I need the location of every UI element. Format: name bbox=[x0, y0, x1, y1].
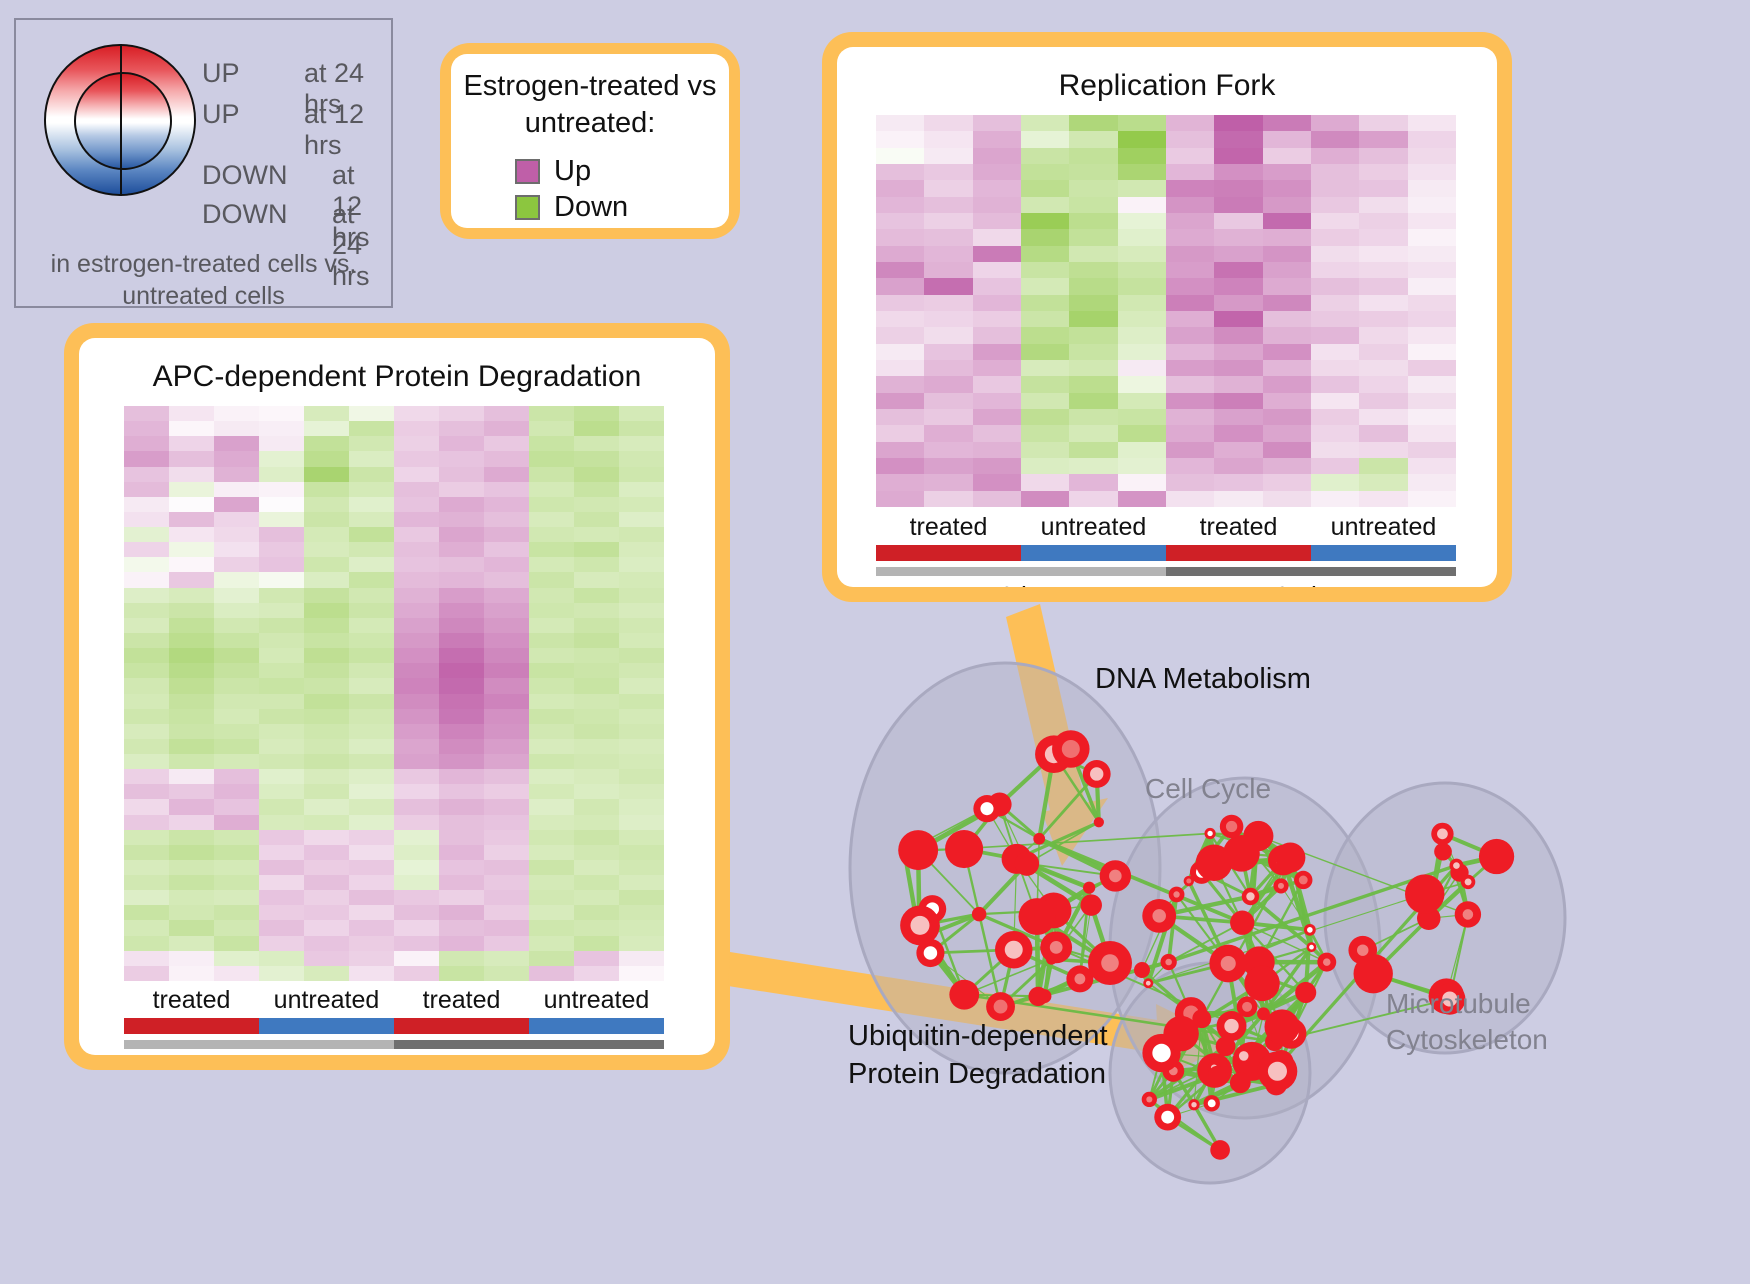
heatmap-cell bbox=[1408, 229, 1456, 245]
heatmap-cell bbox=[1118, 115, 1166, 131]
heatmap-cell bbox=[1166, 409, 1214, 425]
heatmap-cell bbox=[304, 815, 349, 830]
heatmap-cell bbox=[304, 830, 349, 845]
heatmap-cell bbox=[349, 845, 394, 860]
heatmap-cell bbox=[169, 936, 214, 951]
heatmap-cell bbox=[1021, 197, 1069, 213]
heatmap-cell bbox=[259, 482, 304, 497]
heatmap-cell bbox=[1214, 278, 1262, 294]
heatmap-cell bbox=[1118, 197, 1166, 213]
heatmap-cell bbox=[529, 739, 574, 754]
heatmap-cell bbox=[1118, 376, 1166, 392]
heatmap-cell bbox=[1359, 164, 1407, 180]
network-node bbox=[1216, 1036, 1236, 1056]
heatmap-cell bbox=[349, 890, 394, 905]
heatmap-cell bbox=[169, 694, 214, 709]
heatmap-cell bbox=[484, 588, 529, 603]
heatmap-cell bbox=[1359, 197, 1407, 213]
heatmap-cell bbox=[574, 724, 619, 739]
heatmap-cell bbox=[124, 799, 169, 814]
heatmap-cell bbox=[619, 739, 664, 754]
heatmap-cell bbox=[394, 769, 439, 784]
heatmap-cell bbox=[259, 905, 304, 920]
heatmap-cell bbox=[1408, 409, 1456, 425]
apc-degradation-inner: APC-dependent Protein Degradation treate… bbox=[79, 338, 715, 1055]
heatmap-cell bbox=[124, 678, 169, 693]
heatmap-cell bbox=[876, 148, 924, 164]
heatmap-cell bbox=[304, 633, 349, 648]
heatmap-cell bbox=[484, 815, 529, 830]
heatmap-cell bbox=[1069, 376, 1117, 392]
heatmap-cell bbox=[619, 875, 664, 890]
network-node bbox=[1094, 817, 1104, 827]
heatmap-cell bbox=[1263, 131, 1311, 147]
heatmap-cell bbox=[574, 890, 619, 905]
heatmap-cell bbox=[1214, 442, 1262, 458]
heatmap-cell bbox=[1069, 442, 1117, 458]
network-node-core bbox=[1463, 909, 1474, 920]
group-bar-treated bbox=[124, 1018, 259, 1034]
heatmap-cell bbox=[1069, 425, 1117, 441]
network-node bbox=[1230, 911, 1254, 935]
heatmap-cell bbox=[304, 875, 349, 890]
network-node bbox=[1163, 1016, 1198, 1051]
network-node-core bbox=[1307, 927, 1313, 933]
heatmap-cell bbox=[1021, 148, 1069, 164]
heatmap-cell bbox=[124, 860, 169, 875]
heatmap-cell bbox=[1311, 213, 1359, 229]
heatmap-cell bbox=[1021, 311, 1069, 327]
heatmap-cell bbox=[973, 474, 1021, 490]
heatmap-cell bbox=[124, 603, 169, 618]
heatmap-cell bbox=[574, 451, 619, 466]
network-node-core bbox=[1090, 767, 1103, 780]
heatmap-cell bbox=[619, 663, 664, 678]
heatmap-cell bbox=[304, 724, 349, 739]
heatmap-cell bbox=[124, 482, 169, 497]
heatmap-cell bbox=[439, 724, 484, 739]
heatmap-cell bbox=[1214, 344, 1262, 360]
heatmap-cell bbox=[529, 497, 574, 512]
heatmap-cell bbox=[529, 875, 574, 890]
heatmap-cell bbox=[439, 512, 484, 527]
network-node bbox=[1223, 835, 1260, 872]
heatmap-cell bbox=[1069, 393, 1117, 409]
heatmap-cell bbox=[1069, 213, 1117, 229]
heatmap-cell bbox=[529, 890, 574, 905]
heatmap-cell bbox=[439, 830, 484, 845]
heatmap-cell bbox=[349, 936, 394, 951]
heatmap-cell bbox=[1166, 311, 1214, 327]
group-bar-untreated bbox=[1311, 545, 1456, 561]
heatmap-cell bbox=[1021, 278, 1069, 294]
heatmap-cell bbox=[876, 278, 924, 294]
heatmap-cell bbox=[529, 557, 574, 572]
heatmap-cell bbox=[876, 180, 924, 196]
heatmap-cell bbox=[924, 442, 972, 458]
heatmap-cell bbox=[924, 278, 972, 294]
heatmap-cell bbox=[169, 678, 214, 693]
group-bar-treated bbox=[876, 545, 1021, 561]
heatmap-cell bbox=[973, 164, 1021, 180]
heatmap-cell bbox=[124, 497, 169, 512]
heatmap-cell bbox=[1311, 393, 1359, 409]
heatmap-cell bbox=[484, 572, 529, 587]
heatmap-cell bbox=[574, 754, 619, 769]
heatmap-cell bbox=[484, 527, 529, 542]
heatmap-cell bbox=[876, 164, 924, 180]
heatmap-cell bbox=[619, 920, 664, 935]
heatmap-cell bbox=[1408, 164, 1456, 180]
heatmap-cell bbox=[529, 951, 574, 966]
heatmap-cell bbox=[619, 557, 664, 572]
heatmap-cell bbox=[484, 618, 529, 633]
heatmap-cell bbox=[574, 799, 619, 814]
heatmap-cell bbox=[304, 920, 349, 935]
heatmap-cell bbox=[1311, 229, 1359, 245]
heatmap-cell bbox=[619, 784, 664, 799]
heatmap-cell bbox=[1069, 311, 1117, 327]
heatmap-cell bbox=[169, 966, 214, 981]
heatmap-cell bbox=[439, 920, 484, 935]
heatmap-cell bbox=[394, 860, 439, 875]
heatmap-cell bbox=[259, 527, 304, 542]
heatmap-cell bbox=[394, 920, 439, 935]
heatmap-cell bbox=[439, 648, 484, 663]
heatmap-cell bbox=[484, 663, 529, 678]
network-node-core bbox=[1224, 1019, 1238, 1033]
heatmap-cell bbox=[619, 497, 664, 512]
heatmap-cell bbox=[439, 905, 484, 920]
heatmap-cell bbox=[1408, 458, 1456, 474]
network-node-core bbox=[1239, 1051, 1249, 1061]
group-label: treated bbox=[876, 513, 1021, 542]
heatmap-cell bbox=[574, 467, 619, 482]
heatmap-cell bbox=[1408, 442, 1456, 458]
heatmap-cell bbox=[214, 557, 259, 572]
network-node bbox=[1479, 839, 1514, 874]
heatmap-cell bbox=[574, 406, 619, 421]
heatmap-cell bbox=[349, 739, 394, 754]
heatmap-cell bbox=[124, 694, 169, 709]
apc-degradation-panel: APC-dependent Protein Degradation treate… bbox=[64, 323, 730, 1070]
heatmap-cell bbox=[484, 633, 529, 648]
heatmap-cell bbox=[1021, 376, 1069, 392]
heatmap-cell bbox=[484, 542, 529, 557]
heatmap-cell bbox=[349, 694, 394, 709]
heatmap-cell bbox=[1359, 425, 1407, 441]
heatmap-cell bbox=[484, 936, 529, 951]
heatmap-cell bbox=[574, 512, 619, 527]
heatmap-cell bbox=[349, 905, 394, 920]
heatmap-cell bbox=[1263, 295, 1311, 311]
heatmap-cell bbox=[924, 295, 972, 311]
inner-ring-12hrs bbox=[74, 72, 172, 170]
replication-fork-group-bars bbox=[876, 545, 1456, 561]
heatmap-cell bbox=[529, 845, 574, 860]
heatmap-cell bbox=[1166, 393, 1214, 409]
colorbar-legend-caption: in estrogen-treated cells vs. untreated … bbox=[16, 248, 391, 312]
group-label: untreated bbox=[529, 986, 664, 1015]
heatmap-cell bbox=[214, 542, 259, 557]
heatmap-cell bbox=[124, 648, 169, 663]
heatmap-cell bbox=[394, 451, 439, 466]
heatmap-cell bbox=[1214, 229, 1262, 245]
heatmap-cell bbox=[439, 542, 484, 557]
heatmap-cell bbox=[529, 618, 574, 633]
heatmap-cell bbox=[394, 709, 439, 724]
heatmap-cell bbox=[259, 497, 304, 512]
heatmap-cell bbox=[1166, 148, 1214, 164]
network-node-core bbox=[1323, 958, 1331, 966]
heatmap-cell bbox=[304, 936, 349, 951]
heatmap-cell bbox=[124, 572, 169, 587]
heatmap-cell bbox=[1359, 409, 1407, 425]
heatmap-cell bbox=[1311, 148, 1359, 164]
group-bar-treated bbox=[394, 1018, 529, 1034]
heatmap-cell bbox=[349, 542, 394, 557]
heatmap-cell bbox=[484, 406, 529, 421]
heatmap-cell bbox=[529, 663, 574, 678]
legend-item-up: Up bbox=[515, 155, 591, 188]
heatmap-cell bbox=[529, 542, 574, 557]
heatmap-cell bbox=[1311, 409, 1359, 425]
heatmap-cell bbox=[439, 482, 484, 497]
updown-legend-panel: Estrogen-treated vs untreated: Up Down bbox=[440, 43, 740, 239]
heatmap-cell bbox=[214, 754, 259, 769]
heatmap-cell bbox=[619, 618, 664, 633]
heatmap-cell bbox=[394, 512, 439, 527]
heatmap-cell bbox=[619, 572, 664, 587]
heatmap-cell bbox=[169, 482, 214, 497]
heatmap-cell bbox=[1311, 278, 1359, 294]
heatmap-cell bbox=[124, 588, 169, 603]
heatmap-cell bbox=[1359, 344, 1407, 360]
group-bar-untreated bbox=[259, 1018, 394, 1034]
heatmap-cell bbox=[1214, 327, 1262, 343]
heatmap-cell bbox=[484, 436, 529, 451]
heatmap-cell bbox=[1118, 180, 1166, 196]
heatmap-cell bbox=[1408, 197, 1456, 213]
heatmap-cell bbox=[394, 694, 439, 709]
heatmap-cell bbox=[1021, 409, 1069, 425]
heatmap-cell bbox=[529, 512, 574, 527]
heatmap-cell bbox=[924, 458, 972, 474]
updown-ring-diagram bbox=[44, 44, 199, 204]
heatmap-cell bbox=[439, 406, 484, 421]
heatmap-cell bbox=[394, 890, 439, 905]
heatmap-cell bbox=[394, 784, 439, 799]
heatmap-cell bbox=[394, 845, 439, 860]
heatmap-cell bbox=[394, 875, 439, 890]
heatmap-cell bbox=[484, 467, 529, 482]
heatmap-cell bbox=[304, 467, 349, 482]
heatmap-cell bbox=[259, 406, 304, 421]
heatmap-cell bbox=[304, 557, 349, 572]
heatmap-cell bbox=[1069, 295, 1117, 311]
updown-legend-inner: Estrogen-treated vs untreated: Up Down bbox=[451, 54, 729, 228]
heatmap-cell bbox=[1408, 425, 1456, 441]
heatmap-cell bbox=[1118, 278, 1166, 294]
heatmap-cell bbox=[169, 648, 214, 663]
heatmap-cell bbox=[484, 724, 529, 739]
network-node-core bbox=[994, 1000, 1008, 1014]
heatmap-cell bbox=[1408, 262, 1456, 278]
heatmap-cell bbox=[529, 406, 574, 421]
heatmap-cell bbox=[439, 603, 484, 618]
heatmap-cell bbox=[619, 451, 664, 466]
heatmap-cell bbox=[124, 905, 169, 920]
heatmap-cell bbox=[304, 709, 349, 724]
legend-state-down-24: DOWN bbox=[202, 199, 287, 230]
heatmap-cell bbox=[1166, 278, 1214, 294]
network-node-core bbox=[1146, 1096, 1152, 1102]
heatmap-cell bbox=[259, 512, 304, 527]
heatmap-cell bbox=[1214, 164, 1262, 180]
heatmap-cell bbox=[1408, 213, 1456, 229]
heatmap-cell bbox=[574, 815, 619, 830]
ring-divider bbox=[120, 44, 122, 196]
heatmap-cell bbox=[214, 815, 259, 830]
heatmap-cell bbox=[619, 830, 664, 845]
heatmap-cell bbox=[349, 951, 394, 966]
heatmap-cell bbox=[619, 512, 664, 527]
heatmap-cell bbox=[304, 512, 349, 527]
heatmap-cell bbox=[439, 815, 484, 830]
heatmap-cell bbox=[439, 845, 484, 860]
heatmap-cell bbox=[349, 875, 394, 890]
heatmap-cell bbox=[304, 966, 349, 981]
heatmap-cell bbox=[394, 830, 439, 845]
heatmap-cell bbox=[259, 799, 304, 814]
heatmap-cell bbox=[439, 951, 484, 966]
heatmap-cell bbox=[1359, 246, 1407, 262]
heatmap-cell bbox=[349, 588, 394, 603]
heatmap-cell bbox=[876, 376, 924, 392]
cluster-label-ubiquitin-degradation: Ubiquitin-dependent Protein Degradation bbox=[848, 1018, 1108, 1093]
heatmap-cell bbox=[1069, 197, 1117, 213]
heatmap-cell bbox=[304, 406, 349, 421]
network-node bbox=[1210, 1140, 1230, 1160]
heatmap-cell bbox=[214, 618, 259, 633]
heatmap-cell bbox=[574, 845, 619, 860]
heatmap-cell bbox=[214, 769, 259, 784]
heatmap-cell bbox=[1214, 360, 1262, 376]
heatmap-cell bbox=[394, 966, 439, 981]
heatmap-cell bbox=[1021, 360, 1069, 376]
heatmap-cell bbox=[1214, 246, 1262, 262]
replication-fork-inner: Replication Fork treateduntreatedtreated… bbox=[837, 47, 1497, 587]
heatmap-cell bbox=[924, 131, 972, 147]
heatmap-cell bbox=[924, 311, 972, 327]
heatmap-cell bbox=[439, 875, 484, 890]
heatmap-cell bbox=[394, 951, 439, 966]
heatmap-cell bbox=[1214, 213, 1262, 229]
heatmap-cell bbox=[1359, 180, 1407, 196]
legend-state-down-12: DOWN bbox=[202, 160, 287, 191]
network-node-core bbox=[1109, 870, 1122, 883]
heatmap-cell bbox=[574, 678, 619, 693]
heatmap-cell bbox=[304, 663, 349, 678]
heatmap-cell bbox=[349, 603, 394, 618]
heatmap-cell bbox=[574, 588, 619, 603]
heatmap-cell bbox=[214, 451, 259, 466]
heatmap-cell bbox=[1166, 344, 1214, 360]
heatmap-cell bbox=[259, 663, 304, 678]
heatmap-cell bbox=[574, 633, 619, 648]
heatmap-cell bbox=[1263, 229, 1311, 245]
heatmap-cell bbox=[1214, 311, 1262, 327]
legend-state-up-12: UP bbox=[202, 99, 240, 130]
heatmap-cell bbox=[169, 572, 214, 587]
heatmap-cell bbox=[1311, 262, 1359, 278]
heatmap-cell bbox=[619, 890, 664, 905]
heatmap-cell bbox=[214, 890, 259, 905]
group-label: treated bbox=[394, 986, 529, 1015]
network-node bbox=[1015, 852, 1039, 876]
heatmap-cell bbox=[1263, 148, 1311, 164]
heatmap-cell bbox=[1359, 393, 1407, 409]
heatmap-cell bbox=[349, 830, 394, 845]
heatmap-cell bbox=[259, 830, 304, 845]
heatmap-cell bbox=[1408, 311, 1456, 327]
heatmap-cell bbox=[214, 633, 259, 648]
heatmap-cell bbox=[349, 678, 394, 693]
heatmap-cell bbox=[394, 482, 439, 497]
heatmap-cell bbox=[214, 406, 259, 421]
heatmap-cell bbox=[394, 648, 439, 663]
heatmap-cell bbox=[1408, 491, 1456, 507]
heatmap-cell bbox=[304, 618, 349, 633]
heatmap-cell bbox=[1118, 458, 1166, 474]
heatmap-cell bbox=[876, 246, 924, 262]
heatmap-cell bbox=[1118, 425, 1166, 441]
heatmap-cell bbox=[1359, 213, 1407, 229]
heatmap-cell bbox=[1311, 491, 1359, 507]
heatmap-cell bbox=[304, 648, 349, 663]
heatmap-cell bbox=[924, 474, 972, 490]
heatmap-cell bbox=[439, 936, 484, 951]
heatmap-cell bbox=[1408, 344, 1456, 360]
network-node-core bbox=[1152, 909, 1166, 923]
heatmap-cell bbox=[1166, 229, 1214, 245]
heatmap-cell bbox=[574, 618, 619, 633]
heatmap-cell bbox=[574, 421, 619, 436]
heatmap-cell bbox=[259, 815, 304, 830]
heatmap-cell bbox=[924, 393, 972, 409]
heatmap-cell bbox=[1166, 474, 1214, 490]
heatmap-cell bbox=[349, 799, 394, 814]
heatmap-cell bbox=[529, 482, 574, 497]
cluster-label-cell-cycle: Cell Cycle bbox=[1145, 773, 1271, 805]
heatmap-cell bbox=[124, 936, 169, 951]
heatmap-cell bbox=[394, 406, 439, 421]
heatmap-cell bbox=[214, 936, 259, 951]
heatmap-cell bbox=[876, 344, 924, 360]
heatmap-cell bbox=[214, 860, 259, 875]
heatmap-cell bbox=[529, 860, 574, 875]
heatmap-cell bbox=[349, 436, 394, 451]
heatmap-cell bbox=[259, 451, 304, 466]
network-node bbox=[1295, 982, 1316, 1003]
heatmap-cell bbox=[124, 663, 169, 678]
heatmap-cell bbox=[259, 724, 304, 739]
heatmap-cell bbox=[214, 527, 259, 542]
heatmap-cell bbox=[439, 588, 484, 603]
heatmap-cell bbox=[124, 951, 169, 966]
network-node-core bbox=[1074, 974, 1085, 985]
heatmap-cell bbox=[973, 278, 1021, 294]
